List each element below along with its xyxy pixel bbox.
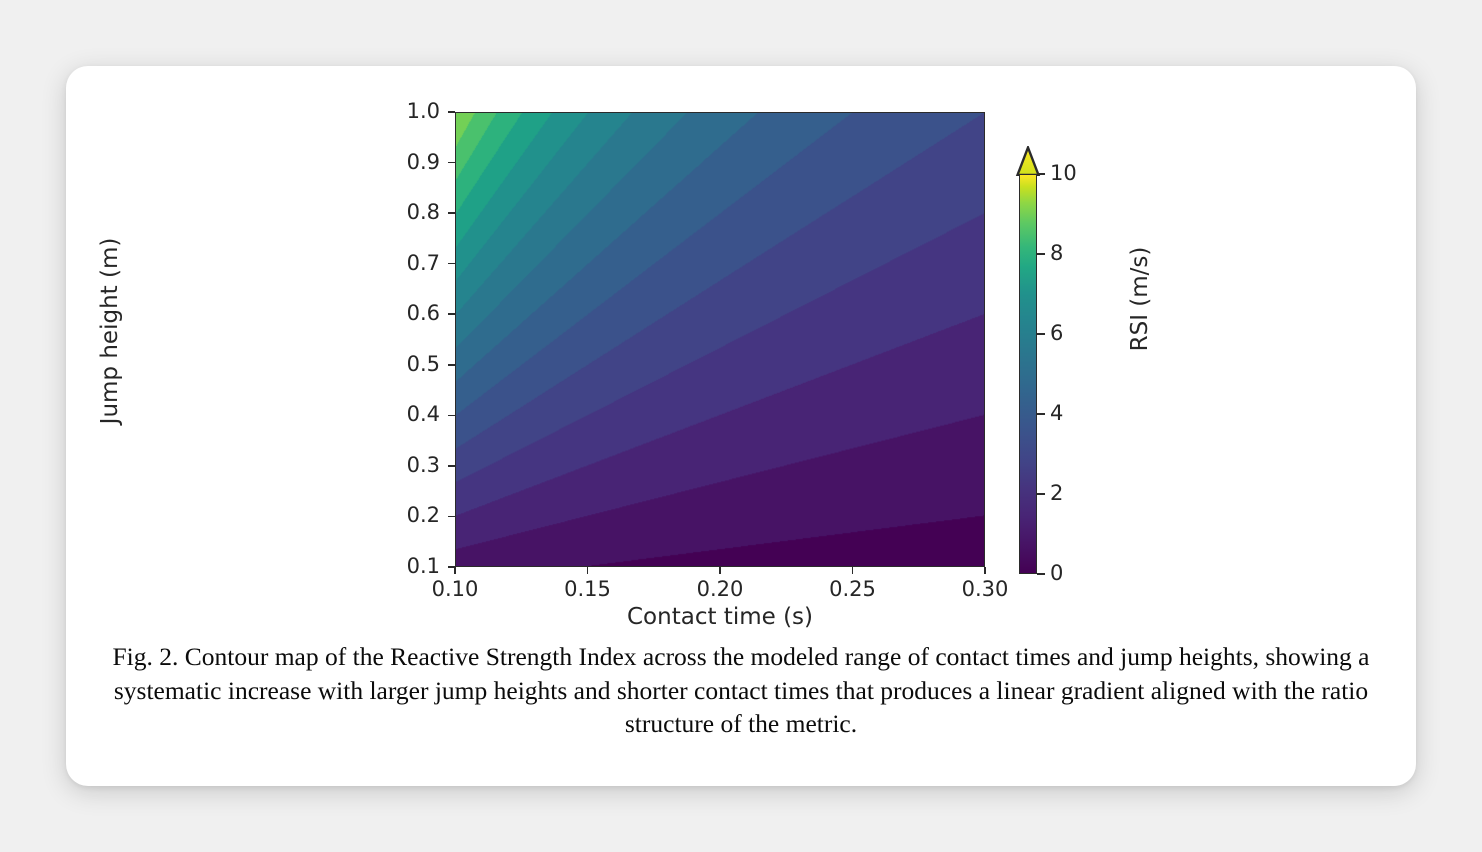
y-axis-tick-label: 0.7: [382, 253, 440, 274]
colorbar-tick-label: 6: [1050, 323, 1063, 344]
y-axis-tick-label: 0.8: [382, 202, 440, 223]
colorbar-tick-label: 10: [1050, 163, 1077, 184]
x-axis-title: Contact time (s): [455, 604, 985, 630]
colorbar-tick: [1037, 333, 1045, 335]
x-axis-tick-label: 0.20: [670, 579, 770, 600]
x-axis-tick: [454, 567, 456, 574]
y-axis-tick-label: 0.4: [382, 404, 440, 425]
y-axis-tick-label: 0.6: [382, 303, 440, 324]
x-axis-tick: [984, 567, 986, 574]
colorbar-tick-label: 2: [1050, 483, 1063, 504]
y-axis-tick-label: 0.9: [382, 152, 440, 173]
colorbar-gradient: [1019, 174, 1037, 574]
figure-card: 0.10.20.30.40.50.60.70.80.91.0 0.100.150…: [66, 66, 1416, 786]
y-axis-tick-label: 0.1: [382, 556, 440, 577]
colorbar-tick-label: 0: [1050, 563, 1063, 584]
y-axis-tick: [448, 465, 455, 467]
y-axis-tick: [448, 313, 455, 315]
colorbar-tick-label: 8: [1050, 243, 1063, 264]
y-axis-tick: [448, 111, 455, 113]
y-axis-tick: [448, 415, 455, 417]
contour-plot-canvas: [456, 113, 984, 566]
colorbar-title: RSI (m/s): [1127, 199, 1153, 399]
x-axis-tick-label: 0.15: [538, 579, 638, 600]
colorbar-tick: [1037, 493, 1045, 495]
y-axis-tick: [448, 516, 455, 518]
y-axis-tick: [448, 162, 455, 164]
y-axis-tick: [448, 212, 455, 214]
colorbar: 0246810 RSI (m/s): [1010, 146, 1130, 586]
colorbar-tick: [1037, 173, 1045, 175]
x-axis-tick: [852, 567, 854, 574]
y-axis-title: Jump height (m): [97, 181, 123, 481]
y-axis-tick-label: 0.2: [382, 505, 440, 526]
colorbar-extend-arrow-icon: [1010, 146, 1046, 176]
contour-figure: 0.10.20.30.40.50.60.70.80.91.0 0.100.150…: [66, 66, 1416, 636]
colorbar-tick: [1037, 573, 1045, 575]
y-axis-tick-label: 1.0: [382, 101, 440, 122]
colorbar-tick: [1037, 253, 1045, 255]
x-axis-tick-label: 0.25: [803, 579, 903, 600]
plot-area: [455, 112, 985, 567]
y-axis-tick-label: 0.5: [382, 354, 440, 375]
y-axis-tick: [448, 263, 455, 265]
colorbar-tick-label: 4: [1050, 403, 1063, 424]
x-axis-tick: [587, 567, 589, 574]
x-axis-tick-label: 0.10: [405, 579, 505, 600]
figure-caption: Fig. 2. Contour map of the Reactive Stre…: [100, 640, 1382, 741]
y-axis-tick-label: 0.3: [382, 455, 440, 476]
colorbar-tick: [1037, 413, 1045, 415]
y-axis-tick: [448, 364, 455, 366]
x-axis-tick: [719, 567, 721, 574]
page-root: 0.10.20.30.40.50.60.70.80.91.0 0.100.150…: [0, 0, 1482, 852]
